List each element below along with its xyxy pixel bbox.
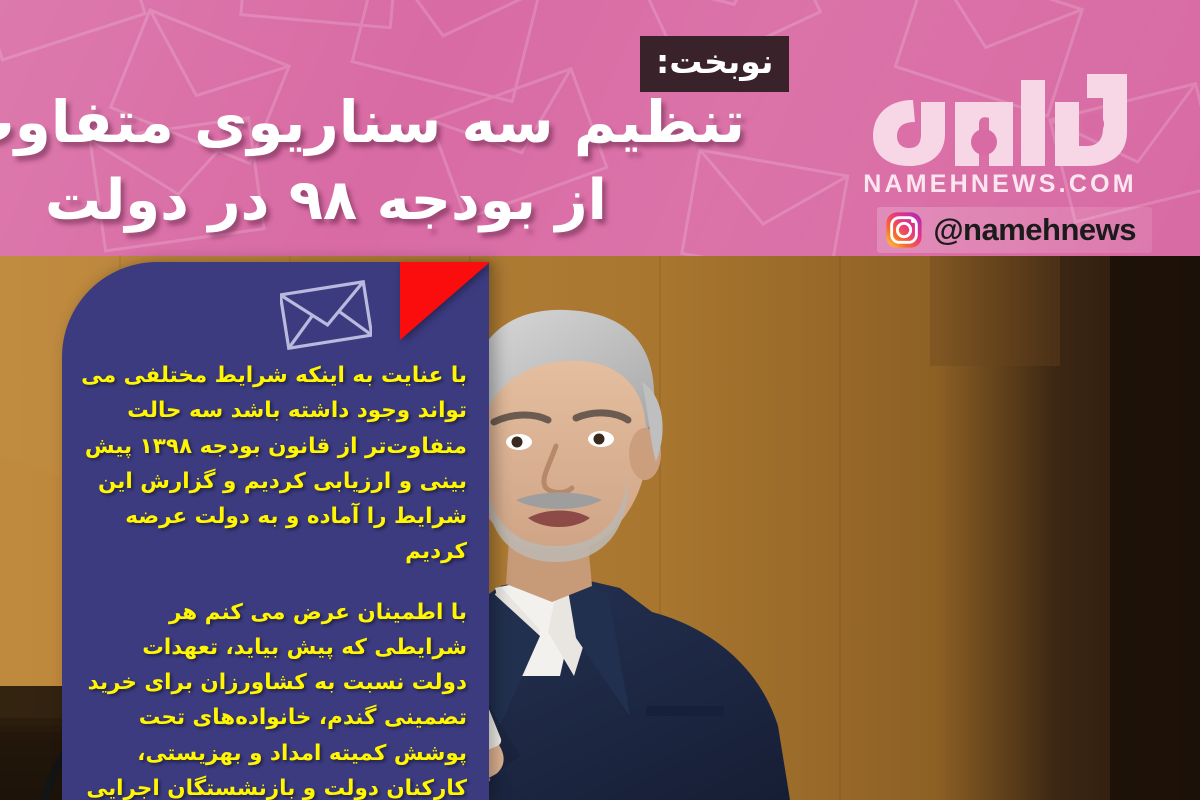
quote-paragraph-1: با عنایت به اینکه شرایط مختلفی می تواند … [80, 358, 467, 570]
page-title: تنظیم سه سناریوی متفاوت‌تر از بودجه ۹۸ د… [45, 82, 745, 239]
headline-line-2: از بودجه ۹۸ در دولت [45, 162, 745, 239]
quote-paragraph-2: با اطمینان عرض می کنم هر شرایطی که پیش ب… [80, 595, 467, 800]
nameh-logo-icon [869, 72, 1131, 168]
poster-header: نوبخت: تنظیم سه سناریوی متفاوت‌تر از بود… [0, 0, 1200, 256]
news-poster: نوبخت: تنظیم سه سناریوی متفاوت‌تر از بود… [0, 0, 1200, 800]
site-logo[interactable]: NAMEHNEWS.COM [850, 72, 1150, 199]
headline-line-1: تنظیم سه سناریوی متفاوت‌تر [45, 82, 745, 162]
red-corner-accent [400, 262, 490, 340]
instagram-badge[interactable]: @namehnews [877, 207, 1152, 253]
quote-card: با عنایت به اینکه شرایط مختلفی می تواند … [62, 262, 489, 800]
quote-text: با عنایت به اینکه شرایط مختلفی می تواند … [62, 358, 489, 800]
instagram-handle: @namehnews [933, 212, 1136, 248]
envelope-icon [280, 280, 372, 350]
instagram-icon [885, 211, 923, 249]
site-domain-label: NAMEHNEWS.COM [850, 170, 1150, 199]
